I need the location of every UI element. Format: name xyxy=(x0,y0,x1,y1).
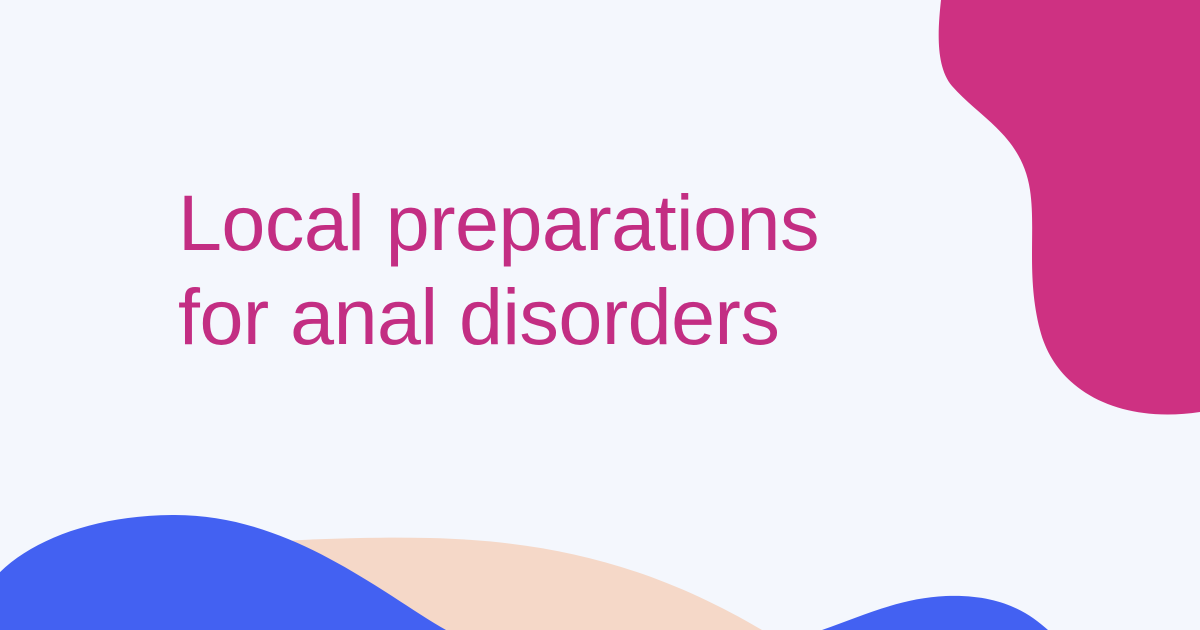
title-line-1: Local preparations xyxy=(178,176,958,270)
title-line-2: for anal disorders xyxy=(178,270,958,364)
social-card: Local preparations for anal disorders xyxy=(0,0,1200,630)
page-title: Local preparations for anal disorders xyxy=(178,176,958,364)
